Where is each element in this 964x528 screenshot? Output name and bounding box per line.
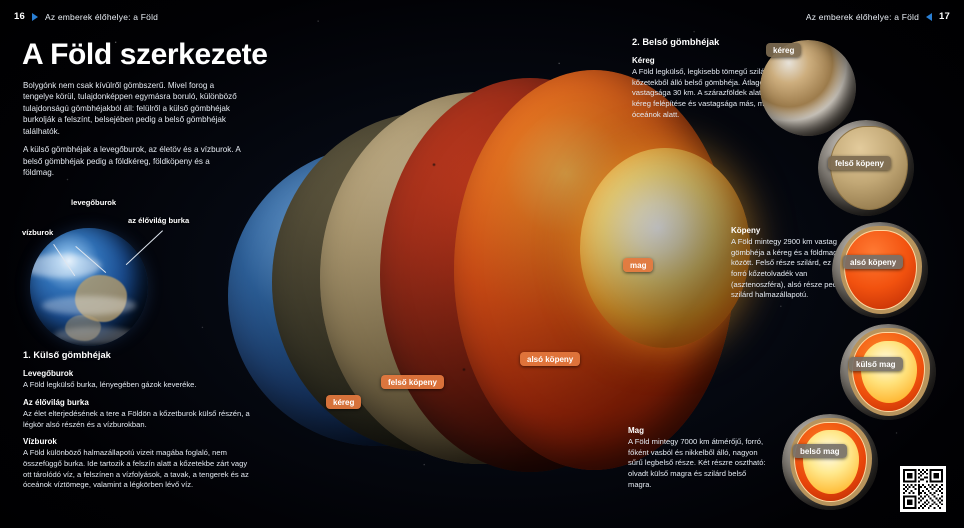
cloud-band — [54, 327, 137, 344]
desc-elovilag-burka: Az élet elterjedésének a tere a Földön a… — [23, 409, 255, 430]
callout-levegoburok: levegőburok — [71, 198, 116, 207]
pill-kereg: kéreg — [326, 395, 361, 409]
chevron-left-icon — [926, 13, 932, 21]
pill-also-kopeny: alsó köpeny — [520, 352, 580, 366]
sphere-label-also-kopeny: alsó köpeny — [843, 255, 903, 269]
earth-cutaway-illustration — [228, 26, 648, 506]
earth-globe-photo — [30, 228, 148, 346]
sphere-wedge-outer-core — [861, 341, 917, 402]
term-vizburok: Vízburok — [23, 436, 255, 447]
sphere-label-belso-mag: belső mag — [793, 444, 847, 458]
page-number-right: 17 — [939, 11, 950, 22]
sphere-also-kopeny — [832, 222, 928, 318]
desc-vizburok: A Föld különböző halmazállapotú vizeit m… — [23, 448, 255, 491]
sphere-kulso-mag — [840, 324, 936, 420]
chevron-right-icon — [32, 13, 38, 21]
callout-vizburok: vízburok — [22, 228, 53, 237]
running-head-right-title: Az emberek élőhelye: a Föld — [806, 12, 919, 22]
qr-code-pattern — [903, 469, 943, 509]
sphere-belso-mag — [782, 414, 878, 510]
term-mag: Mag — [628, 425, 768, 436]
sphere-label-felso-kopeny: felső köpeny — [828, 156, 891, 170]
section-core: Mag A Föld mintegy 7000 km átmérőjű, for… — [628, 425, 768, 490]
sphere-wedge-inner-core — [803, 430, 859, 493]
textbook-spread: 16 Az emberek élőhelye: a Föld Az embere… — [0, 0, 964, 528]
pill-mag: mag — [623, 258, 653, 272]
desc-mag: A Föld mintegy 7000 km átmérőjű, forró, … — [628, 437, 768, 490]
sphere-label-kereg: kéreg — [766, 43, 801, 57]
term-kereg: Kéreg — [632, 55, 784, 66]
intro-text: Bolygónk nem csak kívülről gömbszerű. Mi… — [23, 80, 241, 179]
intro-paragraph-2: A külső gömbhéjak a levegőburok, az élet… — [23, 144, 241, 178]
term-kopeny: Köpeny — [731, 225, 853, 236]
pill-felso-kopeny: felső köpeny — [381, 375, 444, 389]
intro-paragraph-1: Bolygónk nem csak kívülről gömbszerű. Mi… — [23, 80, 241, 137]
term-elovilag-burka: Az élővilág burka — [23, 397, 255, 408]
layer-core — [580, 148, 750, 348]
page-number-left: 16 — [14, 11, 25, 22]
running-head-left: 16 Az emberek élőhelye: a Föld — [14, 11, 158, 22]
section-inner-heading: 2. Belső gömbhéjak — [632, 36, 784, 49]
desc-levegoburok: A Föld legkülső burka, lényegében gázok … — [23, 380, 255, 391]
sphere-label-kulso-mag: külső mag — [849, 357, 903, 371]
running-head-left-title: Az emberek élőhelye: a Föld — [45, 12, 158, 22]
callout-elovilag-burka: az élővilág burka — [128, 216, 189, 225]
section-outer-heading: 1. Külső gömbhéjak — [23, 349, 255, 362]
cloud-band — [42, 296, 136, 315]
running-head-right: Az emberek élőhelye: a Föld 17 — [806, 11, 950, 22]
section-outer-shells: 1. Külső gömbhéjak Levegőburok A Föld le… — [23, 349, 255, 491]
qr-code[interactable] — [900, 466, 946, 512]
term-levegoburok: Levegőburok — [23, 368, 255, 379]
